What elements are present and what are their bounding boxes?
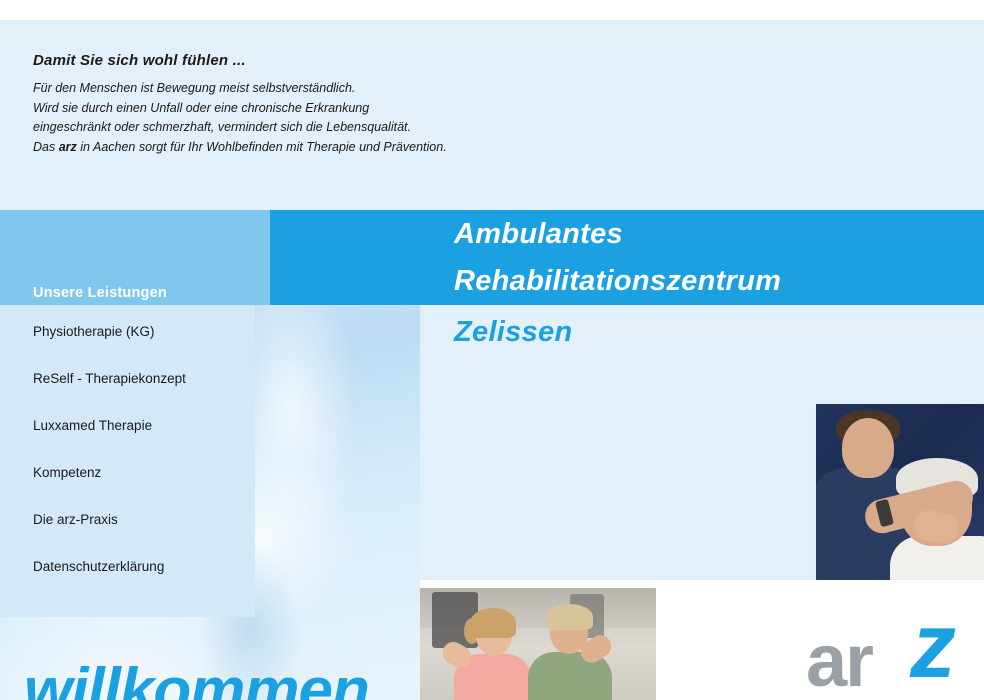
gym-woman-hair <box>470 608 516 638</box>
arz-logo-text: ar <box>806 624 872 698</box>
intro-line-3: eingeschränkt oder schmerzhaft, verminde… <box>33 118 733 138</box>
photo-therapy-session <box>816 404 984 580</box>
right-white-column <box>964 580 984 700</box>
intro-line-2: Wird sie durch einen Unfall oder eine ch… <box>33 99 733 119</box>
sidebar-item-label: Kompetenz <box>33 465 101 480</box>
photo-gym-training <box>420 588 656 700</box>
intro-line-4-suffix: in Aachen sorgt für Ihr Wohlbefinden mit… <box>77 140 447 154</box>
arz-logo: ar z <box>806 600 984 700</box>
intro-line-4-brand: arz <box>59 140 77 154</box>
sidebar-item-label: ReSelf - Therapiekonzept <box>33 371 186 386</box>
intro-band: Damit Sie sich wohl fühlen ... Für den M… <box>0 20 984 210</box>
welcome-headline: willkommen <box>24 660 369 700</box>
intro-heading: Damit Sie sich wohl fühlen ... <box>33 52 733 69</box>
page-root: Damit Sie sich wohl fühlen ... Für den M… <box>0 0 984 700</box>
gym-man-hair <box>546 604 593 630</box>
sidebar-item-luxxamed[interactable]: Luxxamed Therapie <box>33 418 152 433</box>
sidebar-item-label: Datenschutzerklärung <box>33 559 164 574</box>
arz-logo-accent-letter: z <box>910 600 956 692</box>
site-title-line-3: Zelissen <box>454 316 572 349</box>
intro-line-1: Für den Menschen ist Bewegung meist selb… <box>33 79 733 99</box>
sidebar-item-label: Physiotherapie (KG) <box>33 324 155 339</box>
sidebar-item-kompetenz[interactable]: Kompetenz <box>33 465 101 480</box>
sidebar-item-label: Die arz-Praxis <box>33 512 118 527</box>
site-title-line-1: Ambulantes <box>454 218 623 251</box>
intro-text-block: Damit Sie sich wohl fühlen ... Für den M… <box>33 52 733 157</box>
intro-line-4-prefix: Das <box>33 140 59 154</box>
sidebar-item-label: Luxxamed Therapie <box>33 418 152 433</box>
intro-line-4: Das arz in Aachen sorgt für Ihr Wohlbefi… <box>33 138 733 158</box>
therapist-head <box>842 418 894 478</box>
top-white-strip <box>0 0 984 20</box>
sidebar-item-datenschutz[interactable]: Datenschutzerklärung <box>33 559 164 574</box>
sidebar-item-arz-praxis[interactable]: Die arz-Praxis <box>33 512 118 527</box>
sidebar-item-reself[interactable]: ReSelf - Therapiekonzept <box>33 371 186 386</box>
site-title-line-2: Rehabilitationszentrum <box>454 265 781 298</box>
sidebar-header-label: Unsere Leistungen <box>33 285 167 301</box>
sidebar-item-physiotherapie[interactable]: Physiotherapie (KG) <box>33 324 155 339</box>
